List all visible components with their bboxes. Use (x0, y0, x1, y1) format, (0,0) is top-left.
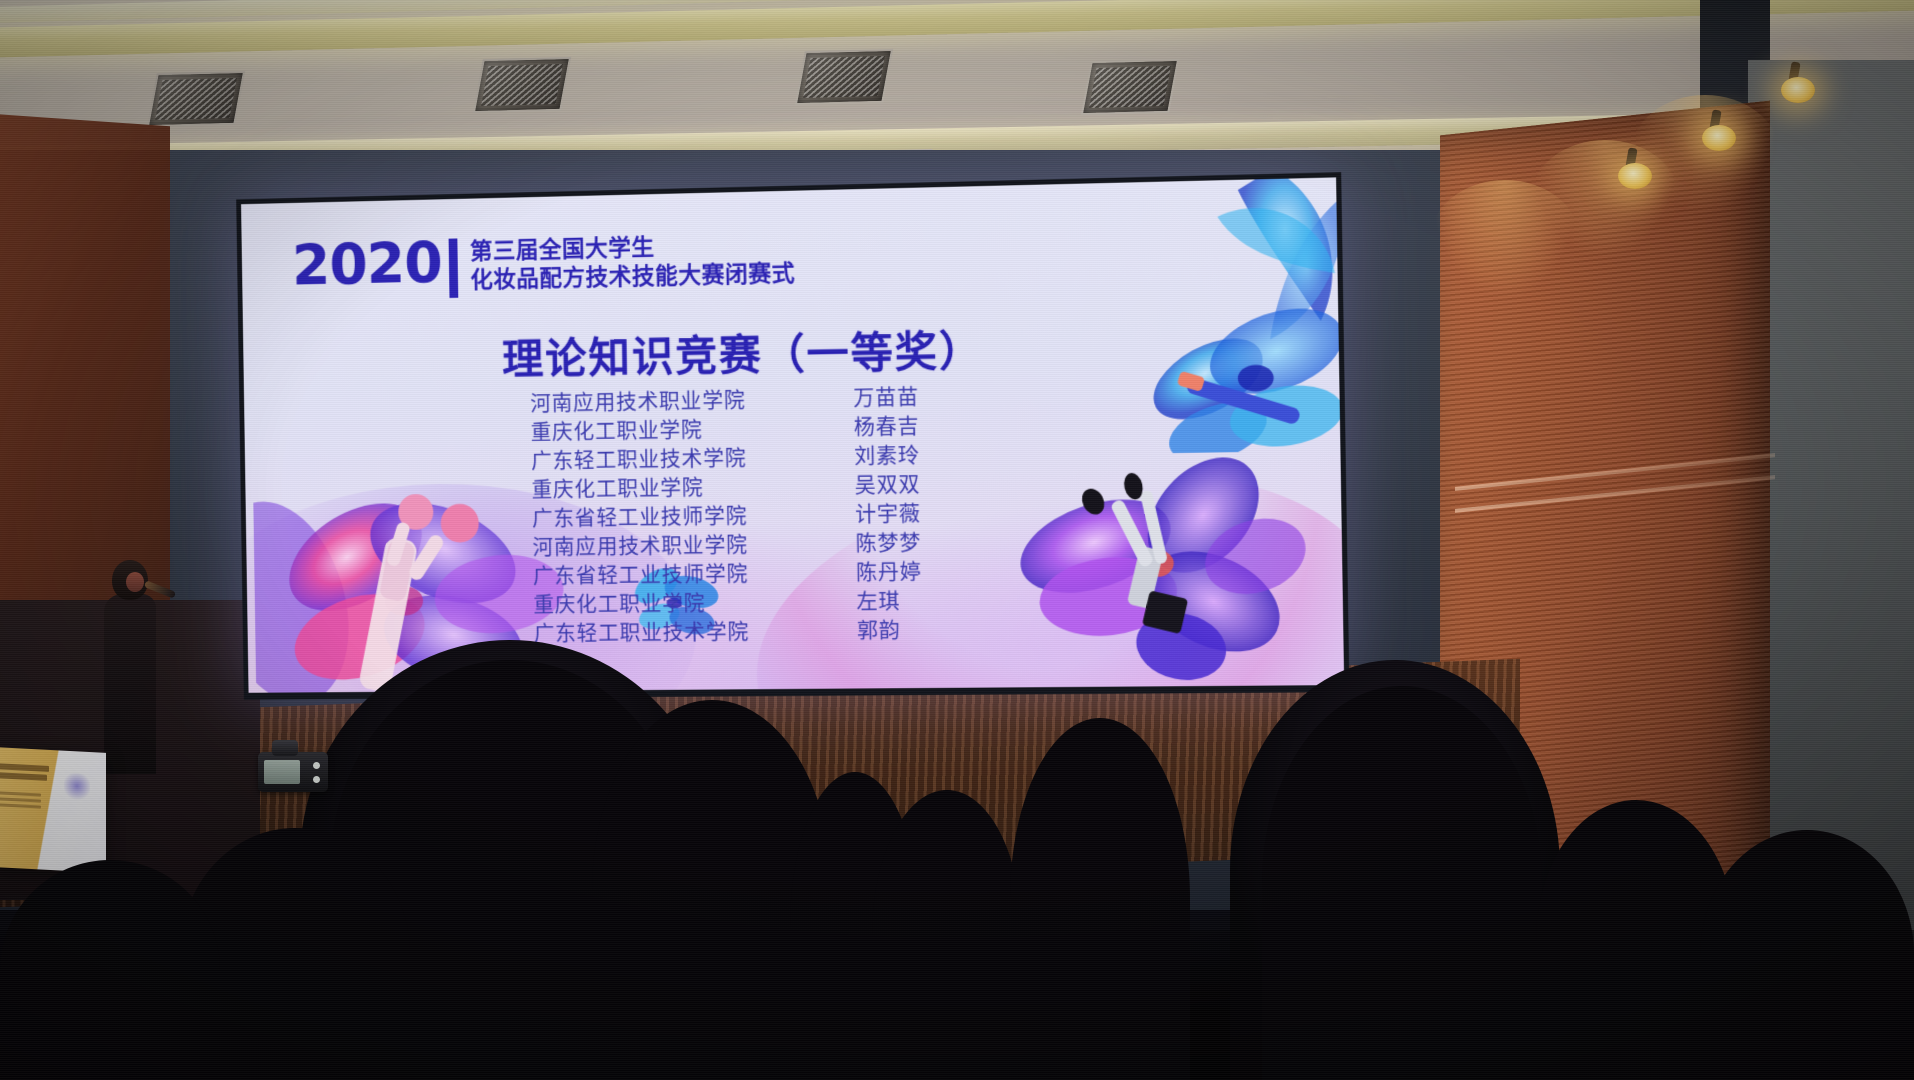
air-vent-icon (147, 71, 246, 127)
winner-school: 广东轻工职业技术学院 (534, 616, 832, 648)
spotlight-glow (1630, 95, 1780, 215)
winner-school: 广东轻工职业技术学院 (531, 442, 828, 475)
presenter-body (104, 594, 156, 774)
winner-school: 重庆化工职业学院 (531, 471, 828, 504)
spotlight-icon (1618, 163, 1652, 189)
audience-silhouette (1700, 830, 1914, 1080)
slide-header: 2020 第三届全国大学生 化妆品配方技术技能大赛闭赛式 (292, 229, 796, 302)
camera-button (313, 776, 320, 783)
podium-banner-text-line (0, 772, 47, 781)
audience-silhouette (872, 790, 1022, 1080)
winners-list: 河南应用技术职业学院 万苗苗 重庆化工职业学院 杨春吉 广东轻工职业技术学院 刘… (244, 375, 1343, 650)
spotlight-icon (1781, 77, 1815, 103)
audience-silhouette (1262, 686, 1542, 1080)
presenter (100, 560, 160, 775)
winner-name: 陈梦梦 (829, 527, 1039, 559)
winner-name: 计宇薇 (829, 497, 1039, 529)
winner-name: 万苗苗 (827, 380, 1037, 413)
header-divider (448, 238, 458, 297)
air-vent-icon (473, 57, 572, 113)
presenter-face (126, 572, 144, 592)
winner-name: 郭韵 (831, 614, 1041, 645)
far-right-wall (1748, 60, 1914, 960)
camera-button (313, 762, 320, 769)
air-vent-icon (795, 49, 894, 105)
winner-name: 左琪 (830, 585, 1040, 616)
podium-banner-text-line (0, 791, 41, 796)
air-vent-icon (1081, 59, 1180, 115)
winner-school: 重庆化工职业学院 (531, 413, 828, 447)
camera-screen (264, 760, 300, 784)
winner-name: 杨春吉 (828, 410, 1038, 443)
butterfly-logo-icon (64, 773, 90, 802)
podium-banner-text-line (0, 797, 41, 802)
audience-silhouette (1010, 718, 1190, 1080)
podium-banner-text-line (0, 803, 41, 808)
podium (0, 747, 106, 873)
camera-icon (258, 752, 328, 792)
winner-school: 广东省轻工业技师学院 (533, 558, 831, 590)
podium-banner-text-line (0, 763, 49, 772)
spotlight-icon (1702, 125, 1736, 151)
winner-name: 刘素玲 (828, 439, 1038, 471)
winner-name: 陈丹婷 (830, 556, 1040, 587)
slide-year: 2020 (292, 237, 443, 294)
podium-banner (0, 759, 50, 832)
header-lines: 第三届全国大学生 化妆品配方技术技能大赛闭赛式 (470, 229, 796, 295)
winner-school: 重庆化工职业学院 (533, 587, 831, 619)
led-screen-bezel: 2020 第三届全国大学生 化妆品配方技术技能大赛闭赛式 理论知识竞赛（一等奖）… (236, 172, 1349, 700)
camera-lens (272, 740, 298, 756)
audience-silhouette (0, 860, 220, 1080)
winner-school: 河南应用技术职业学院 (532, 529, 829, 561)
header-line-2: 化妆品配方技术技能大赛闭赛式 (470, 261, 795, 295)
winner-name: 吴双双 (828, 468, 1038, 500)
winner-row: 广东轻工职业技术学院 郭韵 (534, 614, 1041, 648)
auditorium-photo: 2020 第三届全国大学生 化妆品配方技术技能大赛闭赛式 理论知识竞赛（一等奖）… (0, 0, 1914, 1080)
winner-school: 广东省轻工业技师学院 (532, 500, 829, 533)
presentation-slide: 2020 第三届全国大学生 化妆品配方技术技能大赛闭赛式 理论知识竞赛（一等奖）… (241, 177, 1344, 692)
